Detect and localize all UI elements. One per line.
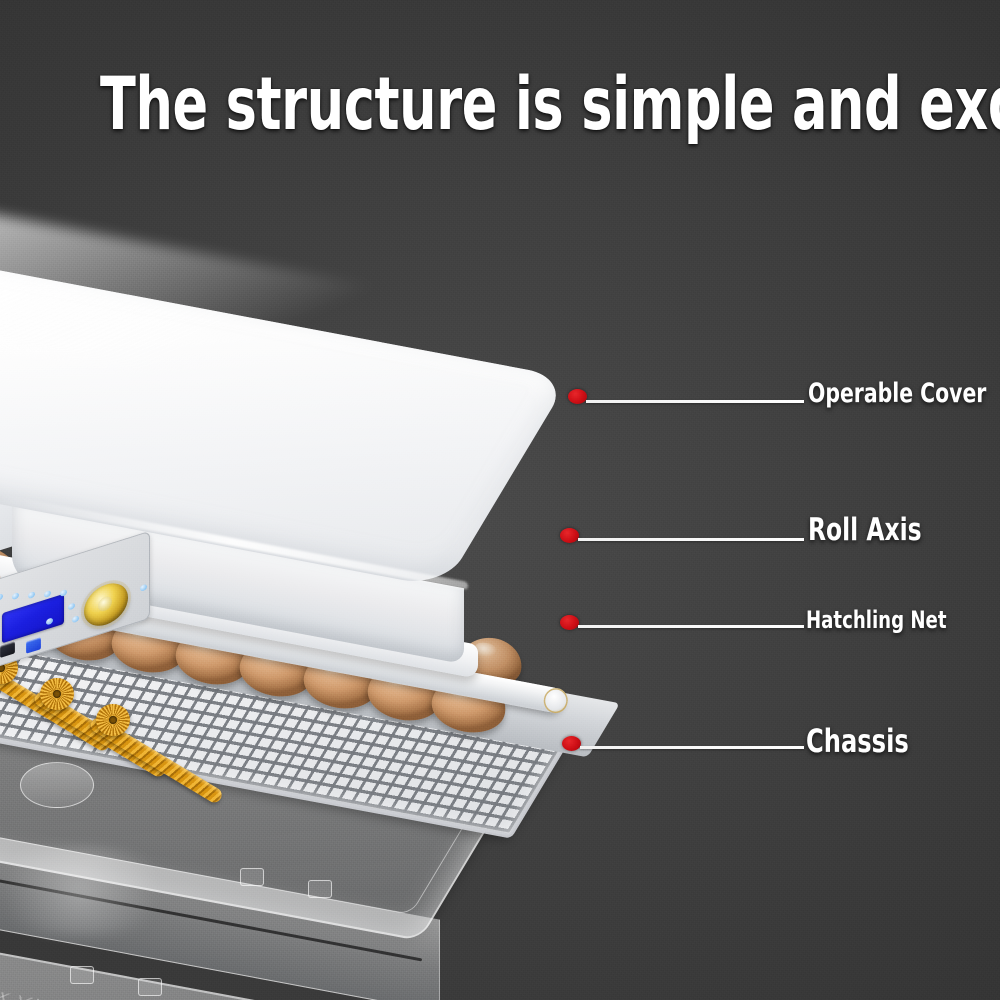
chassis-tab (308, 880, 332, 898)
chassis-tab (138, 978, 162, 996)
callout-line-hatchling-net (578, 625, 804, 628)
callout-line-roll-axis (578, 538, 804, 541)
callout-dot-chassis (562, 736, 581, 751)
incubator-exploded-view (0, 0, 1000, 1000)
operable-cover-part (0, 248, 680, 568)
chassis-tab (70, 966, 94, 984)
worm-gear-cog (96, 704, 130, 736)
callout-label-chassis: Chassis (806, 722, 909, 760)
chassis-tab (240, 868, 264, 886)
callout-dot-operable-cover (568, 389, 587, 404)
callout-line-chassis (580, 746, 804, 749)
callout-label-operable-cover: Operable Cover (808, 378, 986, 409)
product-illustration-canvas: The structure is simple and exquisite Op… (0, 0, 1000, 1000)
worm-gear-cog (40, 678, 74, 710)
callout-label-hatchling-net: Hatchling Net (806, 606, 947, 634)
callout-dot-hatchling-net (560, 615, 579, 630)
page-title: The structure is simple and exquisite (100, 68, 900, 141)
callout-line-operable-cover (586, 400, 804, 403)
callout-dot-roll-axis (560, 528, 579, 543)
callout-label-roll-axis: Roll Axis (808, 512, 922, 548)
